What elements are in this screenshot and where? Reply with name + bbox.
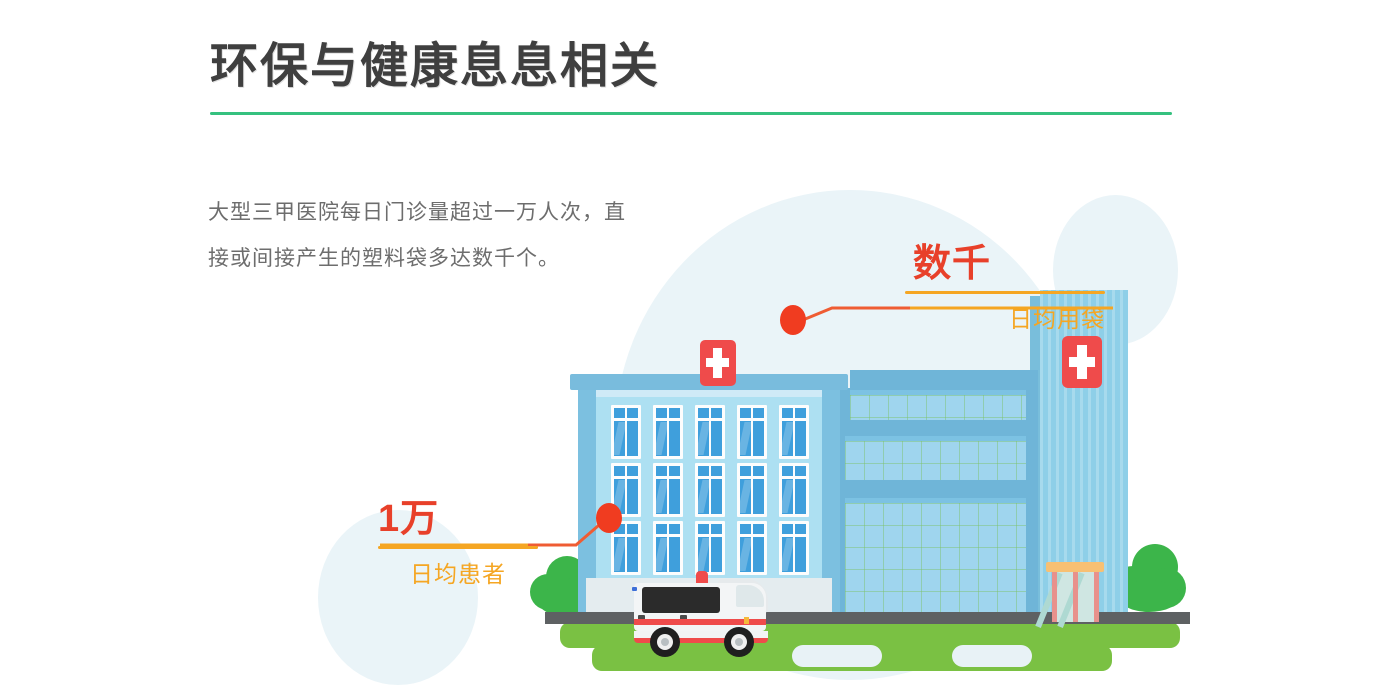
callout-rule [378, 546, 538, 549]
entrance-column-left [1052, 572, 1057, 622]
callout-label: 日均患者 [378, 555, 538, 589]
hospital-illustration [0, 0, 1400, 700]
ambulance-indicator [744, 617, 749, 624]
entrance-awning [1046, 562, 1104, 572]
ambulance-beacon [696, 571, 708, 583]
hospital-roof-highlight [596, 390, 822, 397]
window [695, 405, 725, 459]
window [737, 405, 767, 459]
window [779, 521, 809, 575]
window [737, 463, 767, 517]
callout-value: 数千 [905, 232, 1105, 287]
cross-horizontal [706, 358, 729, 367]
path-gap-right [952, 645, 1032, 667]
callout-label: 日均用袋 [905, 300, 1105, 334]
window [611, 405, 641, 459]
glass-band-3 [845, 498, 1026, 612]
glass-band-1 [850, 390, 1026, 420]
slide-canvas: 环保与健康息息相关 大型三甲医院每日门诊量超过一万人次，直接或间接产生的塑料袋多… [0, 0, 1400, 700]
glass-block-roof [850, 370, 1038, 390]
window [695, 463, 725, 517]
ambulance-wheel-rear [650, 627, 680, 657]
ambulance [628, 565, 776, 657]
callout-rule [905, 291, 1105, 294]
ambulance-window [642, 587, 720, 613]
callout-daily-patients: 1万 日均患者 [378, 487, 538, 589]
ambulance-marker-light [632, 587, 637, 591]
red-cross-sign-main [700, 340, 736, 386]
callout-dot-daily-patients [596, 503, 622, 533]
window [653, 405, 683, 459]
entrance-column-mid [1073, 572, 1078, 622]
window [653, 463, 683, 517]
glass-band-2 [845, 436, 1026, 480]
callout-dot-daily-bags [780, 305, 806, 335]
ambulance-wheel-front [724, 627, 754, 657]
path-gap-left [792, 645, 882, 667]
window [779, 405, 809, 459]
callout-daily-bags: 数千 日均用袋 [905, 232, 1105, 334]
callout-value: 1万 [378, 487, 538, 542]
entrance-column-right [1094, 572, 1099, 622]
window [779, 463, 809, 517]
